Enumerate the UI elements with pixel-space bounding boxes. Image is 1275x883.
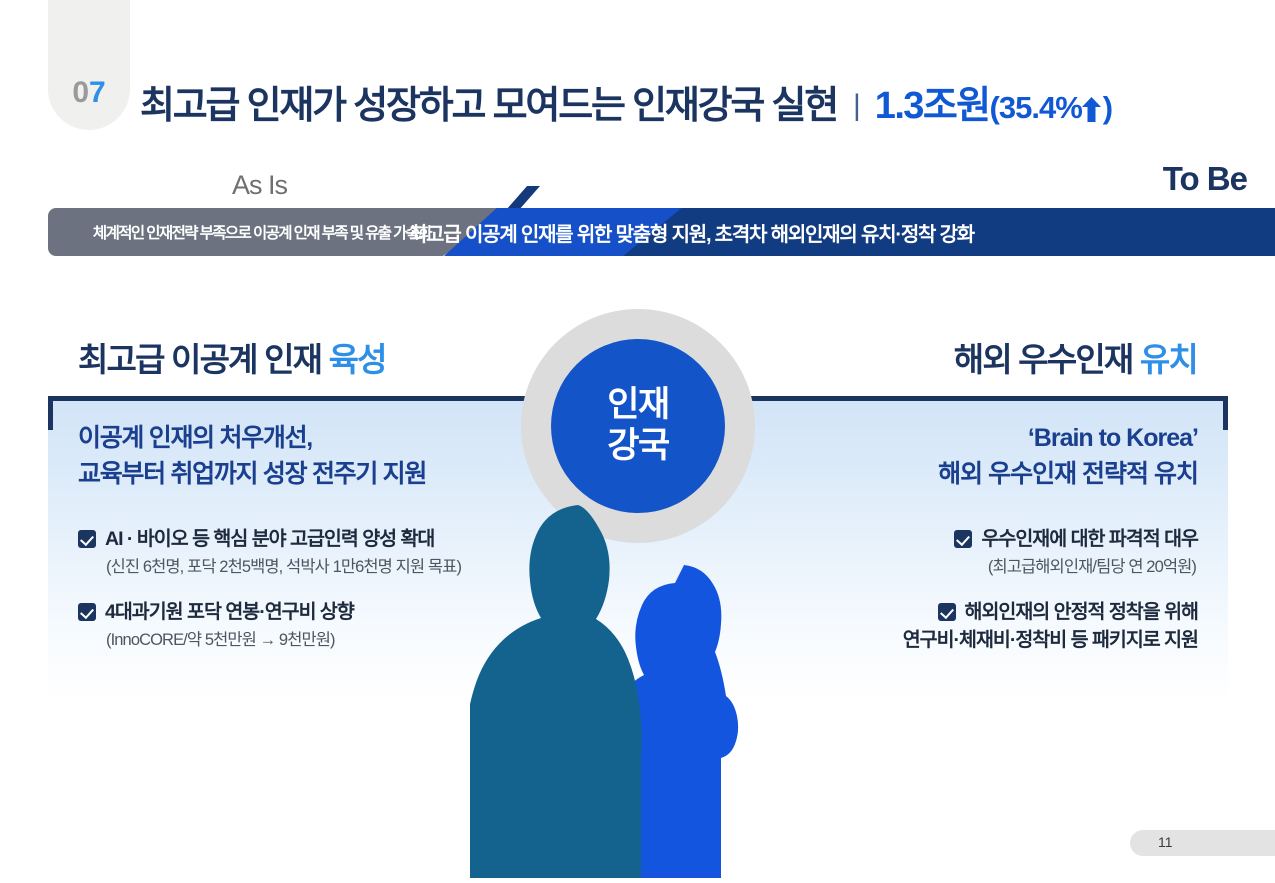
column-right-bullets: 우수인재에 대한 파격적 대우 (최고급해외인재/팀당 연 20억원) 해외인재… xyxy=(638,527,1198,654)
page-number-pill: 11 xyxy=(1130,830,1275,856)
checkbox-icon xyxy=(938,603,956,621)
column-heading-right: 해외 우수인재 유치 xyxy=(954,333,1197,381)
list-item: 해외인재의 안정적 정착을 위해 연구비·체재비·정착비 등 패키지로 지원 xyxy=(638,600,1198,654)
column-left-title-line2: 교육부터 취업까지 성장 전주기 지원 xyxy=(78,456,538,492)
checkbox-icon xyxy=(954,530,972,548)
column-left-bullets: AI · 바이오 등 핵심 분야 고급인력 양성 확대 (신진 6천명, 포닥 … xyxy=(78,527,538,652)
center-badge-line1: 인재 xyxy=(607,385,668,426)
to-be-label: To Be xyxy=(1163,160,1247,198)
page-title-row: 최고급 인재가 성장하고 모여드는 인재강국 실현 | 1.3조원(35.4%) xyxy=(140,74,1112,129)
column-left-title-line1: 이공계 인재의 처우개선, xyxy=(78,420,538,456)
bullet-main-row: 우수인재에 대한 파격적 대우 xyxy=(638,527,1198,552)
list-item: AI · 바이오 등 핵심 분야 고급인력 양성 확대 (신진 6천명, 포닥 … xyxy=(78,527,538,579)
bullet-text: 해외인재의 안정적 정착을 위해 xyxy=(965,600,1198,625)
center-badge-line2: 강국 xyxy=(607,426,668,467)
column-heading-left-highlight: 육성 xyxy=(329,341,386,378)
column-heading-right-plain: 해외 우수인재 xyxy=(954,341,1140,378)
panel-corner-bracket-right xyxy=(1223,396,1228,430)
banner-accent-mark xyxy=(506,186,540,210)
slide-header: 07 최고급 인재가 성장하고 모여드는 인재강국 실현 | 1.3조원(35.… xyxy=(0,0,1275,160)
bullet-main-row-continued: 연구비·체재비·정착비 등 패키지로 지원 xyxy=(638,628,1198,653)
column-heading-right-highlight: 유치 xyxy=(1140,341,1197,378)
page-number: 11 xyxy=(1158,834,1173,850)
section-number-badge: 07 xyxy=(48,0,130,130)
checkbox-icon xyxy=(78,530,96,548)
list-item: 우수인재에 대한 파격적 대우 (최고급해외인재/팀당 연 20억원) xyxy=(638,527,1198,579)
section-number-digit-2: 7 xyxy=(89,76,106,109)
bullet-text-line2: 연구비·체재비·정착비 등 패키지로 지원 xyxy=(903,628,1198,653)
column-left: 이공계 인재의 처우개선, 교육부터 취업까지 성장 전주기 지원 AI · 바… xyxy=(78,420,538,674)
bullet-subtext: (최고급해외인재/팀당 연 20억원) xyxy=(638,556,1198,578)
bullet-main-row: 해외인재의 안정적 정착을 위해 xyxy=(638,600,1198,625)
budget-percent-close: ) xyxy=(1103,90,1112,125)
column-heading-left: 최고급 이공계 인재 육성 xyxy=(78,333,386,381)
bullet-main-row: 4대과기원 포닥 연봉·연구비 상향 xyxy=(78,600,538,625)
section-number: 07 xyxy=(48,76,130,110)
title-separator: | xyxy=(853,89,861,123)
to-be-text: 최고급 이공계 인재를 위한 맞춤형 지원, 초격차 해외인재의 유치·정착 강… xyxy=(48,208,1275,256)
column-heading-left-plain: 최고급 이공계 인재 xyxy=(78,341,329,378)
budget-percent: (35.4% xyxy=(990,90,1082,125)
column-left-title: 이공계 인재의 처우개선, 교육부터 취업까지 성장 전주기 지원 xyxy=(78,420,538,493)
page-title: 최고급 인재가 성장하고 모여드는 인재강국 실현 xyxy=(140,74,837,129)
comparison-banner: 체계적인 인재전략 부족으로 이공계 인재 부족 및 유출 가속화 최고급 이공… xyxy=(48,208,1275,256)
budget-figure: 1.3조원(35.4%) xyxy=(875,74,1112,129)
center-badge: 인재 강국 xyxy=(551,339,725,513)
bullet-text: 4대과기원 포닥 연봉·연구비 상향 xyxy=(105,600,354,625)
list-item: 4대과기원 포닥 연봉·연구비 상향 (InnoCORE/약 5천만원 → 9천… xyxy=(78,600,538,652)
as-is-label: As Is xyxy=(232,170,287,201)
arrow-up-icon xyxy=(1082,97,1101,122)
bullet-text: AI · 바이오 등 핵심 분야 고급인력 양성 확대 xyxy=(105,527,434,552)
bullet-text: 우수인재에 대한 파격적 대우 xyxy=(981,527,1198,552)
bullet-subtext: (신진 6천명, 포닥 2천5백명, 석박사 1만6천명 지원 목표) xyxy=(78,556,538,578)
section-number-digit-1: 0 xyxy=(72,76,89,109)
checkbox-icon xyxy=(78,603,96,621)
bullet-subtext: (InnoCORE/약 5천만원 → 9천만원) xyxy=(78,629,538,651)
panel-corner-bracket-left xyxy=(48,396,53,430)
bullet-main-row: AI · 바이오 등 핵심 분야 고급인력 양성 확대 xyxy=(78,527,538,552)
budget-amount: 1.3조원 xyxy=(875,85,990,127)
